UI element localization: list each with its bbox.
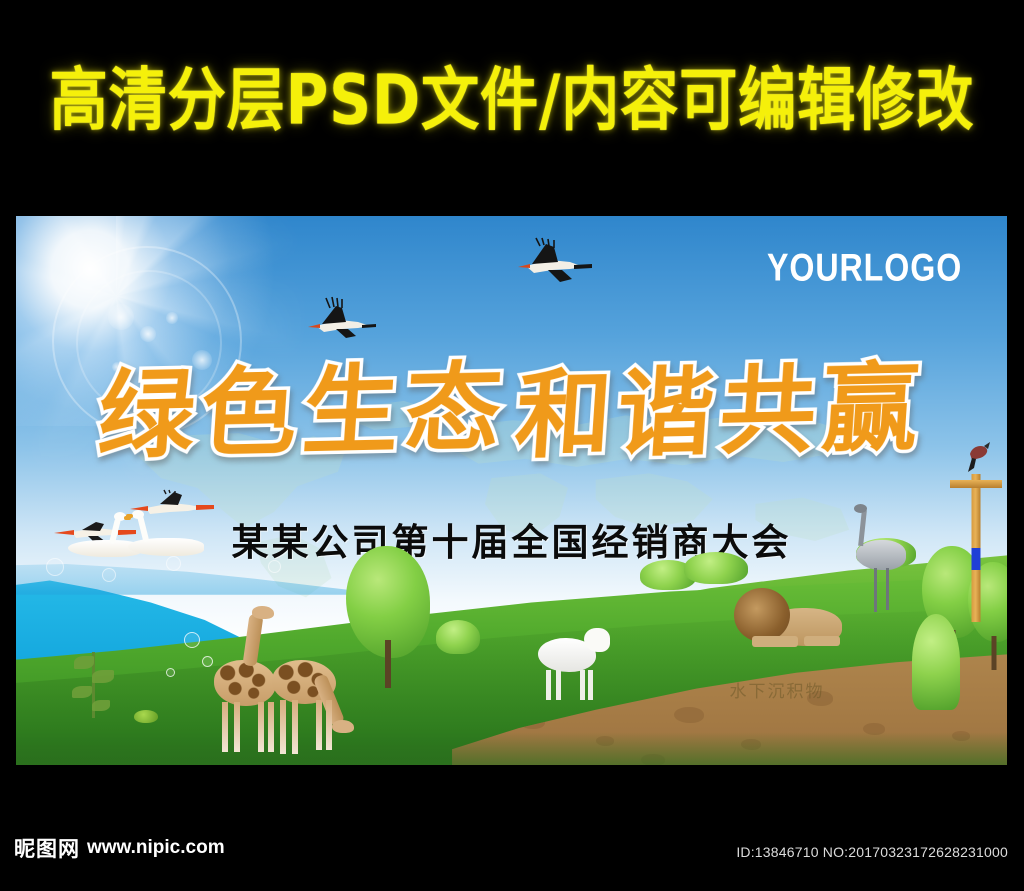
water-bubble bbox=[102, 568, 116, 582]
water-bubble bbox=[46, 558, 64, 576]
giraffe-grazing bbox=[268, 636, 364, 762]
standing-crane bbox=[850, 504, 908, 614]
water-bubble bbox=[166, 668, 175, 677]
frog bbox=[134, 710, 158, 723]
banner-headline-text: 高清分层PSD文件/内容可编辑修改 bbox=[50, 66, 975, 134]
poster-canvas[interactable]: YOURLOGO bbox=[16, 216, 1007, 765]
water-bubble bbox=[184, 632, 200, 648]
footer-bar: 昵图网 www.nipic.com ID:13846710 NO:2017032… bbox=[0, 765, 1024, 891]
lion bbox=[734, 584, 844, 660]
footer-brand[interactable]: 昵图网 www.nipic.com bbox=[14, 833, 225, 863]
perched-bird bbox=[962, 440, 992, 474]
shrub-mid bbox=[436, 620, 480, 654]
your-logo-text[interactable]: YOURLOGO bbox=[767, 246, 962, 291]
foreground-grass-strip bbox=[16, 732, 1007, 765]
water-bubble bbox=[268, 560, 281, 573]
shrub-right-hill-2 bbox=[684, 552, 748, 584]
world-map-silhouette bbox=[95, 359, 947, 601]
swan-right bbox=[124, 510, 208, 564]
flying-stork-left bbox=[306, 296, 378, 342]
utility-pole bbox=[956, 462, 996, 622]
flying-stork-right bbox=[516, 238, 594, 288]
asset-id-text: ID:13846710 NO:20170323172628231000 bbox=[736, 844, 1008, 860]
water-plants bbox=[72, 646, 118, 720]
conifer-under-pole bbox=[912, 614, 960, 710]
soil-stone bbox=[674, 707, 704, 723]
lens-flare-dot-2 bbox=[140, 326, 156, 342]
goat bbox=[534, 620, 614, 702]
lens-flare-dot-3 bbox=[166, 312, 178, 324]
soil-watermark-text: 水下沉积物 bbox=[730, 677, 825, 702]
top-banner: 高清分层PSD文件/内容可编辑修改 bbox=[0, 0, 1024, 200]
nipic-url-text[interactable]: www.nipic.com bbox=[87, 837, 225, 859]
nipic-logo-text: 昵图网 bbox=[14, 833, 80, 863]
lens-flare-dot-1 bbox=[108, 304, 134, 330]
